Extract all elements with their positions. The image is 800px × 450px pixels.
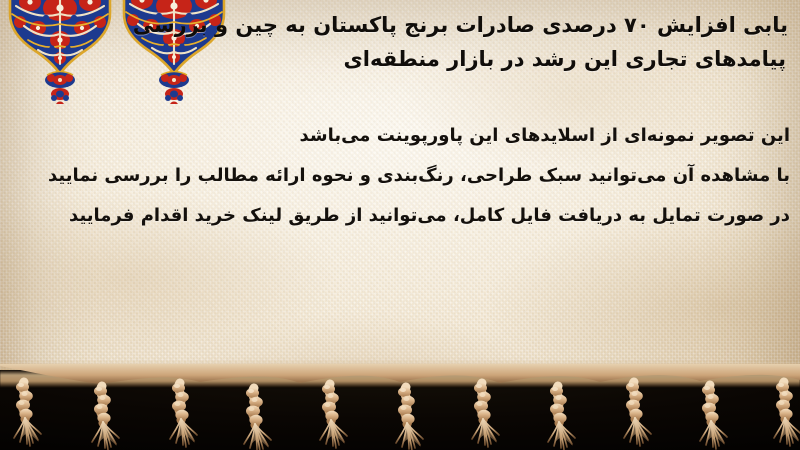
slide-body: این تصویر نمونه‌ای از اسلایدهای این پاور… bbox=[0, 116, 790, 236]
title-line-2: پیامدهای تجاری این رشد در بازار منطقه‌ای bbox=[0, 42, 786, 76]
title-line-1: یابی افزایش ۷۰ درصدی صادرات برنج پاکستان… bbox=[0, 8, 788, 42]
body-line-1: این تصویر نمونه‌ای از اسلایدهای این پاور… bbox=[0, 116, 790, 156]
text-layer: یابی افزایش ۷۰ درصدی صادرات برنج پاکستان… bbox=[0, 0, 800, 450]
body-line-3: در صورت تمایل به دریافت فایل کامل، می‌تو… bbox=[0, 196, 790, 236]
body-line-2: با مشاهده آن می‌توانید سبک طراحی، رنگ‌بن… bbox=[0, 156, 790, 196]
slide-canvas: یابی افزایش ۷۰ درصدی صادرات برنج پاکستان… bbox=[0, 0, 800, 450]
slide-title: یابی افزایش ۷۰ درصدی صادرات برنج پاکستان… bbox=[0, 8, 792, 76]
